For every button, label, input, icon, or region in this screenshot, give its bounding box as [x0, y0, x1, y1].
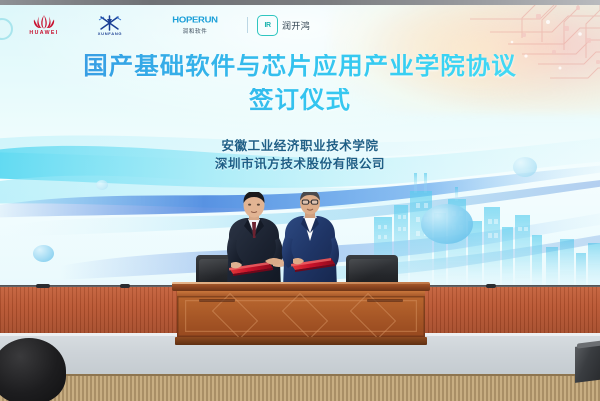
runkaihong-badge-icon: IR [257, 15, 278, 36]
subtitle-line-2: 深圳市讯方技术股份有限公司 [0, 155, 600, 173]
logo-hoperun-subtext: 润和软件 [183, 27, 208, 35]
subtitle-line-1: 安徽工业经济职业技术学院 [0, 137, 600, 155]
logo-divider [247, 17, 248, 33]
logo-hoperun: HOPERUN 润和软件 [152, 15, 238, 35]
desk-diamond-2 [282, 293, 329, 340]
logo-huawei-wordmark: HUAWEI [29, 30, 58, 36]
logo-xunfang: XUNFANG [84, 15, 136, 36]
beam-fixture-2 [120, 284, 130, 288]
xunfang-x-icon [96, 15, 124, 31]
desk-inner-frame [185, 300, 417, 332]
bubble-large [421, 204, 473, 244]
logo-xunfang-wordmark: XUNFANG [98, 31, 122, 36]
beam-fixture-1 [36, 284, 50, 288]
huawei-petal-icon [27, 14, 61, 29]
bubble-tiny [96, 180, 108, 190]
desk-slot-left [199, 299, 235, 302]
stage-front-apron [0, 374, 600, 401]
ceremony-subtitle: 安徽工业经济职业技术学院 深圳市讯方技术股份有限公司 [0, 137, 600, 173]
desk-top [172, 282, 430, 291]
signing-desk [175, 282, 427, 348]
city-skyline-silhouette-icon [370, 169, 600, 285]
stage-floor-speaker [575, 343, 600, 383]
logo-huawei: HUAWEI [14, 14, 74, 36]
desk-base [175, 337, 427, 345]
beam-fixture-4 [486, 284, 496, 288]
logo-hoperun-wordmark: HOPERUN [172, 16, 217, 26]
logo-runkaihong-wordmark: 润开鸿 [282, 19, 310, 32]
screenshot-root: HUAWEI XUNFANG [0, 0, 600, 401]
signatory-left [227, 192, 289, 288]
logo-runkaihong: IR 润开鸿 [257, 15, 310, 36]
desk-front-panel [177, 296, 425, 337]
ceiling-beam [0, 0, 600, 5]
desk-slot-right [367, 299, 403, 302]
title-line-1: 国产基础软件与芯片应用产业学院协议 [0, 54, 600, 79]
bubble-small-left [33, 245, 54, 262]
partner-logo-strip: HUAWEI XUNFANG [0, 12, 600, 38]
ceremony-title: 国产基础软件与芯片应用产业学院协议 签订仪式 [0, 54, 600, 112]
title-line-2: 签订仪式 [0, 88, 600, 113]
